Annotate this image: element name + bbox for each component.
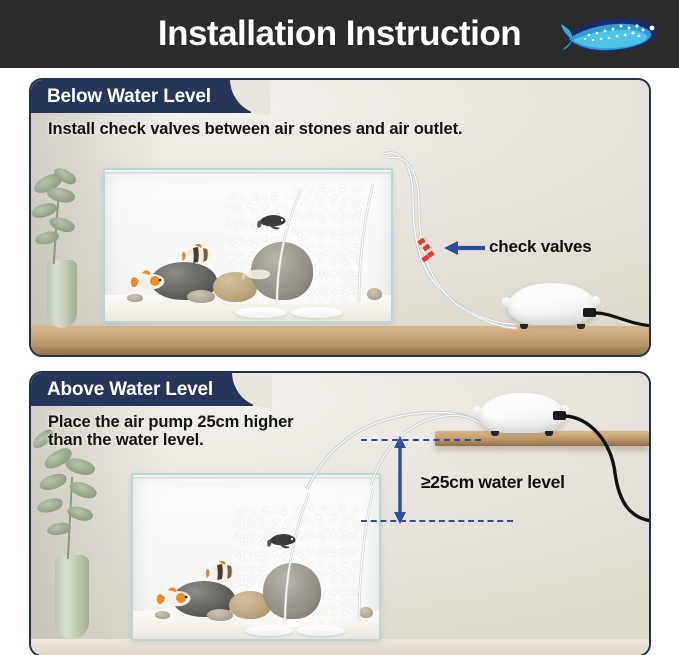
badge-swoosh	[230, 79, 270, 115]
badge-below-water-level: Below Water Level	[31, 80, 251, 113]
power-cord	[583, 304, 649, 344]
installation-instruction-page: Installation Instruction	[0, 0, 679, 655]
fish-goldfish	[129, 268, 169, 294]
floor-strip	[31, 639, 649, 655]
badge-label: Below Water Level	[47, 86, 211, 108]
fish-logo	[559, 14, 663, 56]
pump-foot	[520, 324, 528, 329]
panel-below-water-level: check valves Below Water Level Install c…	[29, 78, 651, 357]
fish-betta-black	[255, 210, 289, 232]
power-cord	[553, 411, 649, 541]
aquarium-tank	[103, 168, 393, 323]
page-header: Installation Instruction	[0, 0, 679, 68]
left-arrow-icon	[443, 238, 485, 258]
double-vertical-arrow-icon	[391, 435, 409, 525]
fish-clownfish	[205, 561, 239, 583]
pump-foot	[491, 431, 499, 436]
aquarium-tank	[131, 473, 381, 641]
fish-clownfish	[181, 244, 215, 266]
fish-small	[241, 266, 275, 282]
check-valves-label: check valves	[489, 237, 592, 257]
caption-below-water-level: Install check valves between air stones …	[48, 120, 463, 138]
airline-tubing-in-tank	[105, 170, 393, 323]
badge-above-water-level: Above Water Level	[31, 373, 253, 406]
dashed-line-top	[361, 439, 481, 441]
pump-air-outlet	[473, 406, 482, 416]
pump-foot	[545, 431, 553, 436]
page-title: Installation Instruction	[158, 14, 521, 54]
caption-above-water-level: Place the air pump 25cm higher than the …	[48, 413, 294, 450]
airline-tubing-in-tank	[133, 475, 381, 641]
wooden-table	[31, 326, 649, 355]
pump-air-outlet	[502, 297, 511, 307]
height-dimension-label: ≥25cm water level	[421, 472, 565, 493]
badge-swoosh	[232, 372, 272, 408]
table-edge	[31, 347, 649, 355]
plant-vase	[47, 260, 77, 328]
fish-goldfish	[155, 585, 195, 611]
dashed-line-bottom	[361, 520, 513, 522]
fish-betta-black	[265, 529, 299, 551]
plant-vase	[55, 555, 89, 639]
badge-label: Above Water Level	[47, 379, 213, 401]
panel-above-water-level: ≥25cm water level Above Water Level Plac…	[29, 371, 651, 655]
